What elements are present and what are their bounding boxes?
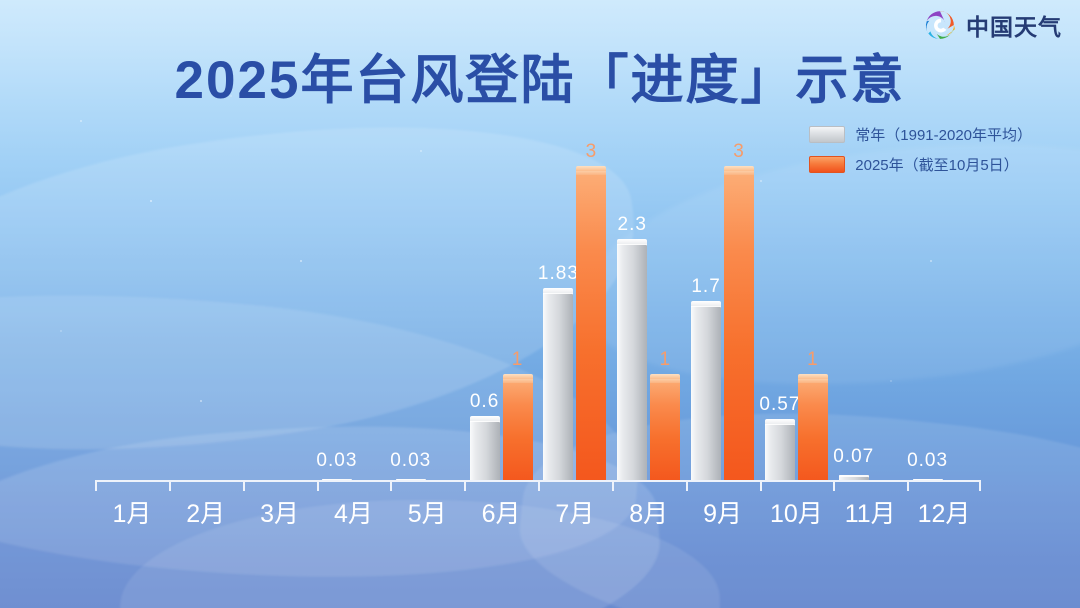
brand-name: 中国天气 xyxy=(966,8,1062,42)
bar-group xyxy=(243,170,317,482)
bar-group: 1.73 xyxy=(686,170,760,482)
bar-value-label: 0.57 xyxy=(759,394,800,416)
bar-group: 2.31 xyxy=(612,170,686,482)
bar-normal-8月[interactable]: 2.3 xyxy=(617,243,647,482)
bar-top-cap xyxy=(543,288,573,293)
bar-2025-6月[interactable]: 1 xyxy=(503,378,533,482)
bar-normal-9月[interactable]: 1.7 xyxy=(691,305,721,482)
legend-label-normal: 常年（1991-2020年平均） xyxy=(855,124,1032,145)
x-axis-label-7月: 7月 xyxy=(538,494,612,530)
bar-body xyxy=(617,243,647,482)
x-axis-tick xyxy=(390,480,392,491)
sparkle-dot xyxy=(60,330,62,332)
x-axis-label-4月: 4月 xyxy=(316,494,390,530)
x-axis-tick xyxy=(317,480,319,491)
bar-value-label: 3 xyxy=(586,141,598,163)
x-axis-tick xyxy=(907,480,909,491)
x-axis-tick xyxy=(760,480,762,491)
bar-normal-10月[interactable]: 0.57 xyxy=(765,423,795,482)
sparkle-dot xyxy=(80,120,82,122)
brand-logo: 中国天气 xyxy=(923,8,1062,42)
bar-top-cap xyxy=(724,166,754,171)
bar-top-cap xyxy=(650,374,680,379)
bar-value-label: 1 xyxy=(512,349,524,371)
bar-top-cap xyxy=(470,416,500,421)
legend-item-normal: 常年（1991-2020年平均） xyxy=(809,124,1032,145)
bar-value-label: 0.6 xyxy=(470,391,499,413)
bar-group: 0.03 xyxy=(317,170,391,482)
x-axis-tick xyxy=(464,480,466,491)
bar-top-cap xyxy=(765,419,795,424)
bar-body xyxy=(650,378,680,482)
legend-swatch-normal xyxy=(809,126,845,143)
x-axis-tick xyxy=(833,480,835,491)
x-axis-tick xyxy=(686,480,688,491)
bar-group: 1.833 xyxy=(538,170,612,482)
x-axis-tick xyxy=(169,480,171,491)
bar-body xyxy=(724,170,754,482)
bar-2025-10月[interactable]: 1 xyxy=(798,378,828,482)
bar-body xyxy=(543,292,573,482)
bar-value-label: 0.07 xyxy=(833,446,874,468)
bar-value-label: 0.03 xyxy=(316,450,357,472)
chart-canvas: 中国天气 2025年台风登陆「进度」示意 常年（1991-2020年平均） 20… xyxy=(0,0,1080,608)
x-axis-label-9月: 9月 xyxy=(686,494,760,530)
bar-value-label: 3 xyxy=(733,141,745,163)
bar-value-label: 2.3 xyxy=(618,214,647,236)
x-axis-label-1月: 1月 xyxy=(95,494,169,530)
bar-top-cap xyxy=(798,374,828,379)
bar-group: 0.571 xyxy=(760,170,834,482)
bar-top-cap xyxy=(691,301,721,306)
bar-2025-7月[interactable]: 3 xyxy=(576,170,606,482)
sparkle-dot xyxy=(420,150,422,152)
weather-swirl-icon xyxy=(923,8,957,42)
x-axis-line xyxy=(95,480,981,482)
x-axis-label-8月: 8月 xyxy=(612,494,686,530)
x-axis-label-2月: 2月 xyxy=(169,494,243,530)
bar-group: 0.03 xyxy=(907,170,981,482)
bar-2025-9月[interactable]: 3 xyxy=(724,170,754,482)
bar-group: 0.07 xyxy=(833,170,907,482)
x-axis-label-5月: 5月 xyxy=(390,494,464,530)
bar-body xyxy=(765,423,795,482)
bar-group: 0.03 xyxy=(390,170,464,482)
bar-value-label: 1 xyxy=(807,349,819,371)
x-axis-label-3月: 3月 xyxy=(243,494,317,530)
x-axis-tick xyxy=(538,480,540,491)
bar-group xyxy=(95,170,169,482)
bar-value-label: 1 xyxy=(659,349,671,371)
bar-body xyxy=(576,170,606,482)
x-axis-label-12月: 12月 xyxy=(907,494,981,530)
bar-normal-6月[interactable]: 0.6 xyxy=(470,420,500,482)
bar-normal-7月[interactable]: 1.83 xyxy=(543,292,573,482)
bar-body xyxy=(691,305,721,482)
x-axis-label-11月: 11月 xyxy=(833,494,907,530)
plot-area: 0.030.030.611.8332.311.730.5710.070.03 xyxy=(95,170,981,482)
bar-top-cap xyxy=(576,166,606,171)
bar-value-label: 0.03 xyxy=(907,450,948,472)
x-axis-tick xyxy=(95,480,97,491)
page-title: 2025年台风登陆「进度」示意 xyxy=(0,38,1080,114)
bar-body xyxy=(503,378,533,482)
bar-body xyxy=(798,378,828,482)
bar-group: 0.61 xyxy=(464,170,538,482)
bar-body xyxy=(470,420,500,482)
x-axis-tick xyxy=(979,480,981,491)
bar-value-label: 0.03 xyxy=(390,450,431,472)
bar-group xyxy=(169,170,243,482)
x-axis-tick xyxy=(612,480,614,491)
x-axis-labels: 1月2月3月4月5月6月7月8月9月10月11月12月 xyxy=(95,494,981,530)
x-axis-tick xyxy=(243,480,245,491)
bar-top-cap xyxy=(503,374,533,379)
bar-value-label: 1.7 xyxy=(691,276,720,298)
bar-top-cap xyxy=(617,239,647,244)
bar-value-label: 1.83 xyxy=(538,263,579,285)
x-axis-label-10月: 10月 xyxy=(759,494,833,530)
bar-2025-8月[interactable]: 1 xyxy=(650,378,680,482)
x-axis-label-6月: 6月 xyxy=(464,494,538,530)
